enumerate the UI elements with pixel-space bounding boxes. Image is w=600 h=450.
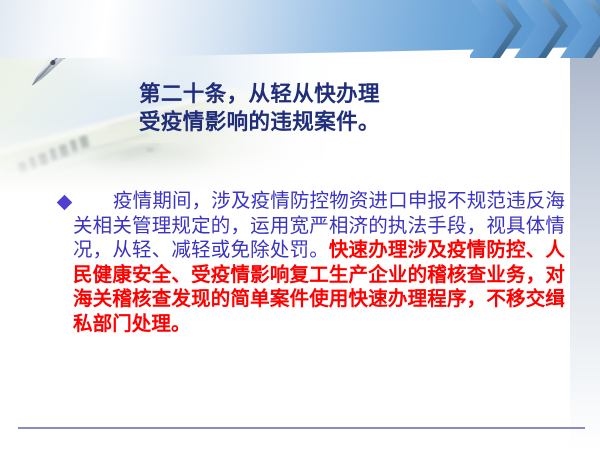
slide-title: 第二十条，从轻从快办理 受疫情影响的违规案件。: [139, 80, 559, 136]
right-edge-gradient-strip: [570, 0, 600, 450]
presentation-slide: 第二十条，从轻从快办理 受疫情影响的违规案件。 疫情期间，涉及疫情防控物资进口申…: [0, 0, 600, 450]
body-paragraph: 疫情期间，涉及疫情防控物资进口申报不规范违反海关相关管理规定的，运用宽严相济的执…: [55, 190, 565, 338]
bottom-divider-rule: [18, 427, 585, 429]
body-content-block: 疫情期间，涉及疫情防控物资进口申报不规范违反海关相关管理规定的，运用宽严相济的执…: [55, 190, 565, 338]
chevron-arrow-decoration: [470, 0, 600, 58]
